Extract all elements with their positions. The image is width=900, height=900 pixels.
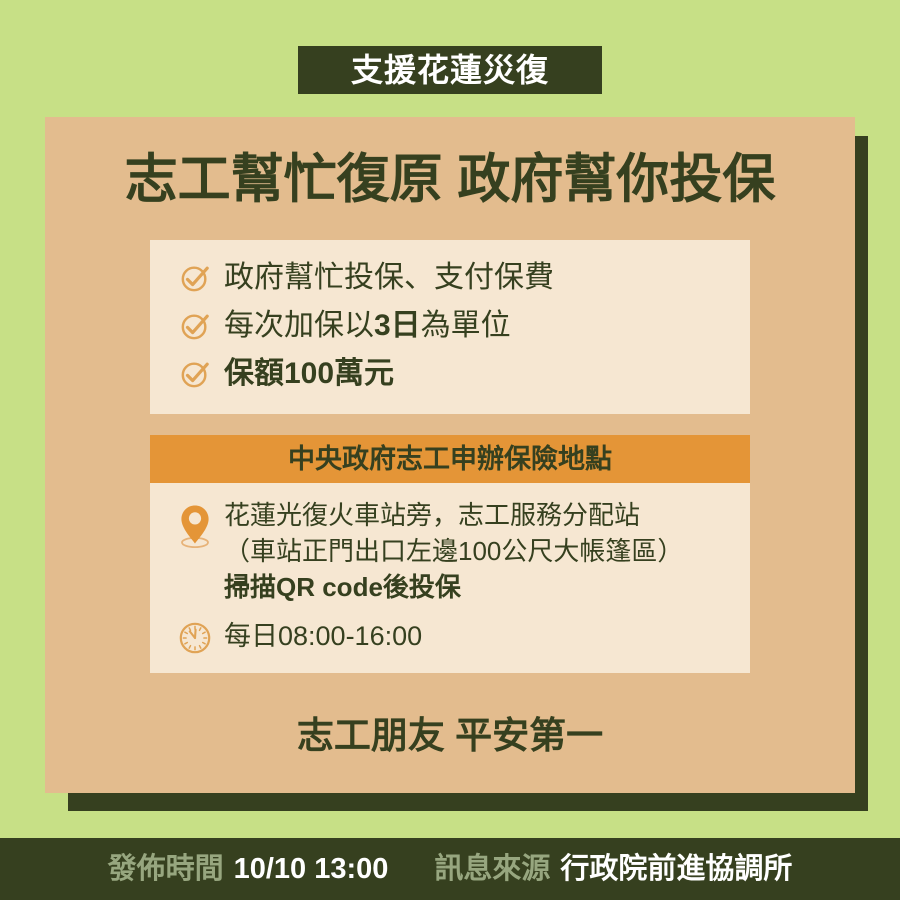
hours-label: 每日08:00-16:00 xyxy=(224,619,422,653)
poster: 支援花蓮災復 志工幫忙復原 政府幫你投保 政府幫忙投保、支付保費 xyxy=(0,0,900,900)
header-banner: 支援花蓮災復 xyxy=(298,46,602,94)
circle-check-icon xyxy=(180,359,210,389)
address-line: 掃描QR code後投保 xyxy=(224,569,683,605)
hours-row: 每日08:00-16:00 xyxy=(150,619,750,655)
source-label: 訊息來源 xyxy=(434,855,550,884)
main-card: 志工幫忙復原 政府幫你投保 政府幫忙投保、支付保費 xyxy=(45,117,855,793)
tagline: 志工朋友 平安第一 xyxy=(45,717,855,754)
publish-time-group: 發佈時間 10/10 13:00 xyxy=(108,855,389,884)
benefits-panel: 政府幫忙投保、支付保費 每次加保以3日為單位 xyxy=(150,240,750,414)
list-item: 每次加保以3日為單位 xyxy=(150,302,750,350)
location-panel-header: 中央政府志工申辦保險地點 xyxy=(150,435,750,483)
address-line: （車站正門出口左邊100公尺大帳篷區） xyxy=(224,533,683,569)
address-lines: 花蓮光復火車站旁，志工服務分配站 （車站正門出口左邊100公尺大帳篷區） 掃描Q… xyxy=(224,497,683,605)
list-item: 保額100萬元 xyxy=(150,350,750,398)
source-value: 行政院前進協調所 xyxy=(560,855,792,884)
list-item: 政府幫忙投保、支付保費 xyxy=(150,254,750,302)
circle-check-icon xyxy=(180,263,210,293)
publish-time-label: 發佈時間 xyxy=(108,855,224,884)
location-panel: 中央政府志工申辦保險地點 花蓮光復火車站旁，志工服務分配站 （車站正門出口左邊1… xyxy=(150,435,750,673)
list-item-label: 保額100萬元 xyxy=(224,359,394,389)
source-group: 訊息來源 行政院前進協調所 xyxy=(434,855,792,884)
location-panel-header-text: 中央政府志工申辦保險地點 xyxy=(288,446,612,473)
address-row: 花蓮光復火車站旁，志工服務分配站 （車站正門出口左邊100公尺大帳篷區） 掃描Q… xyxy=(150,497,750,605)
footer-bar: 發佈時間 10/10 13:00 訊息來源 行政院前進協調所 xyxy=(0,838,900,900)
list-item-label: 每次加保以3日為單位 xyxy=(224,311,511,341)
circle-check-icon xyxy=(180,311,210,341)
map-pin-icon xyxy=(178,497,212,549)
clock-icon xyxy=(178,619,212,655)
page-title: 志工幫忙復原 政府幫你投保 xyxy=(45,153,855,206)
list-item-label: 政府幫忙投保、支付保費 xyxy=(224,263,554,293)
publish-time-value: 10/10 13:00 xyxy=(234,855,389,884)
header-banner-text: 支援花蓮災復 xyxy=(351,54,549,86)
location-panel-body: 花蓮光復火車站旁，志工服務分配站 （車站正門出口左邊100公尺大帳篷區） 掃描Q… xyxy=(150,483,750,673)
address-line: 花蓮光復火車站旁，志工服務分配站 xyxy=(224,497,683,533)
